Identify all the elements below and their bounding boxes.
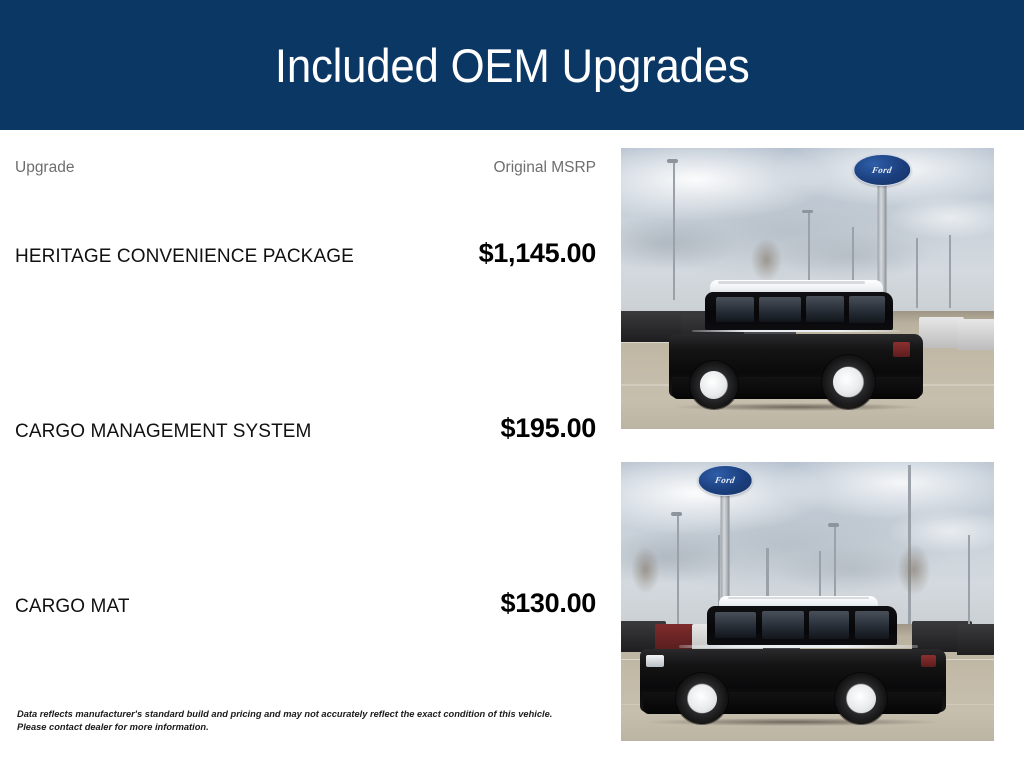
column-header-upgrade: Upgrade: [15, 160, 74, 176]
vehicle-photo-side-profile: Ford: [621, 462, 994, 741]
light-pole-arm: [802, 210, 813, 214]
featured-vehicle: [640, 590, 946, 724]
table-body: HERITAGE CONVENIENCE PACKAGE $1,145.00 C…: [15, 240, 596, 765]
disclaimer-line-1: Data reflects manufacturer's standard bu…: [17, 708, 602, 721]
upgrade-price: $130.00: [501, 590, 597, 617]
roof-rail: [718, 281, 865, 283]
table-row: HERITAGE CONVENIENCE PACKAGE $1,145.00: [15, 240, 596, 415]
column-header-original-msrp: Original MSRP: [494, 160, 597, 176]
light-pole-arm: [828, 523, 839, 527]
table-row: CARGO MAT $130.00: [15, 590, 596, 765]
headlight: [646, 655, 664, 667]
ford-wordmark: Ford: [853, 165, 910, 175]
light-pole-arm: [667, 159, 678, 163]
upgrade-price: $195.00: [501, 415, 597, 442]
chrome-beltline: [692, 330, 900, 333]
ford-logo-icon: Ford: [698, 465, 753, 496]
upgrade-name: CARGO MAT: [15, 597, 130, 616]
vehicle-shadow: [646, 718, 940, 726]
page-header: Included OEM Upgrades: [0, 0, 1024, 130]
vehicle-photo-rear-quarter: Ford: [621, 148, 994, 429]
side-window: [759, 297, 800, 322]
quarter-window: [806, 296, 844, 322]
featured-vehicle: [669, 274, 923, 409]
cabin: [707, 606, 897, 645]
table-row: CARGO MANAGEMENT SYSTEM $195.00: [15, 415, 596, 590]
upgrade-name: CARGO MANAGEMENT SYSTEM: [15, 422, 311, 441]
taillight: [893, 342, 911, 357]
upgrade-name: HERITAGE CONVENIENCE PACKAGE: [15, 247, 354, 266]
light-pole: [968, 535, 970, 624]
light-pole: [949, 235, 951, 308]
wheel: [690, 361, 738, 410]
disclaimer-line-2: Please contact dealer for more informati…: [17, 721, 602, 734]
front-door-window: [762, 611, 804, 638]
rear-door-window: [809, 611, 849, 638]
background-vehicle: [957, 624, 994, 655]
vehicle-shadow: [675, 403, 918, 411]
ford-logo-icon: Ford: [853, 154, 910, 186]
background-vehicle: [957, 319, 994, 350]
table-column-headers: Upgrade Original MSRP: [15, 160, 596, 176]
wheel: [822, 355, 875, 409]
ford-wordmark: Ford: [698, 475, 752, 485]
dealership-scene: Ford: [621, 148, 994, 429]
disclaimer-text: Data reflects manufacturer's standard bu…: [17, 708, 602, 735]
rear-window: [849, 296, 885, 322]
windshield: [715, 612, 757, 638]
upgrades-table: Upgrade Original MSRP HERITAGE CONVENIEN…: [0, 130, 612, 768]
wheel: [676, 673, 728, 724]
upgrade-price: $1,145.00: [479, 240, 596, 267]
taillight: [921, 655, 936, 667]
page-title: Included OEM Upgrades: [275, 42, 750, 89]
dealership-scene: Ford: [621, 462, 994, 741]
side-window: [716, 297, 754, 322]
chrome-beltline: [679, 645, 918, 648]
wheel: [835, 673, 887, 724]
light-pole-arm: [671, 512, 682, 516]
cabin: [705, 292, 893, 330]
quarter-window: [855, 611, 889, 638]
